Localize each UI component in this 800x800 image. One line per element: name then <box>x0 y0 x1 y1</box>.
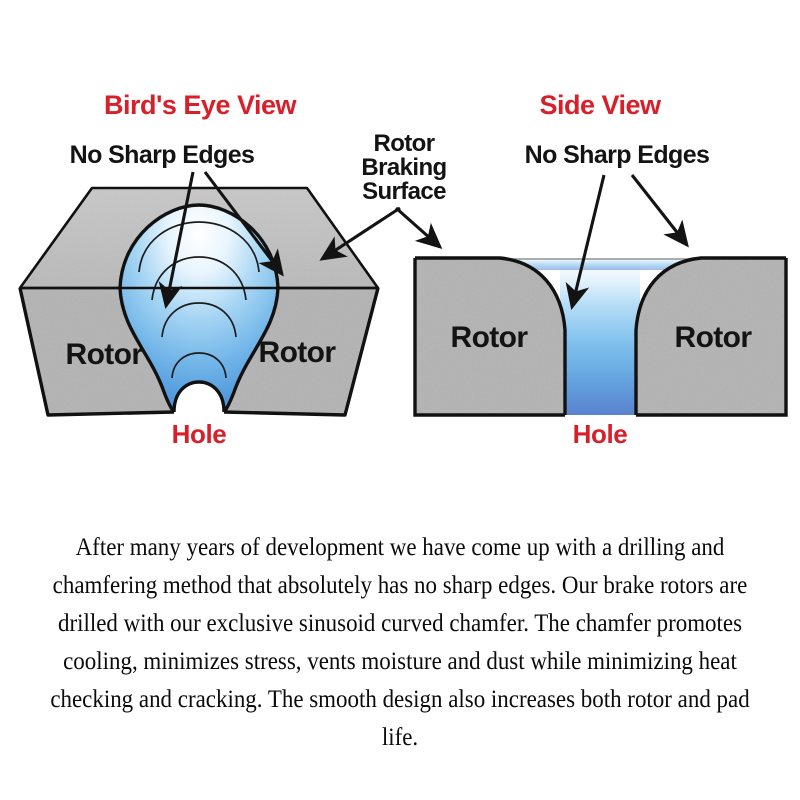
side-view-hole-column <box>560 258 640 415</box>
side-view-hole-label: Hole <box>573 419 628 449</box>
birds-eye-no-sharp-edges-label: No Sharp Edges <box>70 141 255 169</box>
arrow-side-braking-surface <box>396 208 440 247</box>
arrow-side-no-sharp-edges-right <box>632 175 687 245</box>
birds-eye-view-group: Bird's Eye View No Sharp Edges Rotor Bra… <box>20 90 447 449</box>
diagram-area: Bird's Eye View No Sharp Edges Rotor Bra… <box>0 0 800 470</box>
side-view-rotor-label-right: Rotor <box>675 321 753 354</box>
side-view-block: Rotor Rotor <box>415 258 786 415</box>
birds-eye-hole-label: Hole <box>172 419 227 449</box>
birds-eye-title: Bird's Eye View <box>104 90 298 120</box>
side-view-rotor-label-left: Rotor <box>451 321 529 354</box>
side-view-group: Side View No Sharp Edges <box>396 90 786 449</box>
diagram-page: Bird's Eye View No Sharp Edges Rotor Bra… <box>0 0 800 800</box>
description-paragraph: After many years of development we have … <box>40 528 760 756</box>
side-view-no-sharp-edges-label: No Sharp Edges <box>525 141 710 169</box>
braking-surface-label-line3: Surface <box>362 178 446 205</box>
birds-eye-block: Rotor Rotor <box>20 188 378 415</box>
braking-surface-label-line2: Braking <box>361 154 446 181</box>
braking-surface-label-line1: Rotor <box>374 130 435 157</box>
side-view-title: Side View <box>539 90 662 120</box>
birds-eye-rotor-label-left: Rotor <box>66 338 144 371</box>
rotor-chamfer-illustration: Bird's Eye View No Sharp Edges Rotor Bra… <box>0 0 800 470</box>
birds-eye-rotor-label-right: Rotor <box>259 336 337 369</box>
